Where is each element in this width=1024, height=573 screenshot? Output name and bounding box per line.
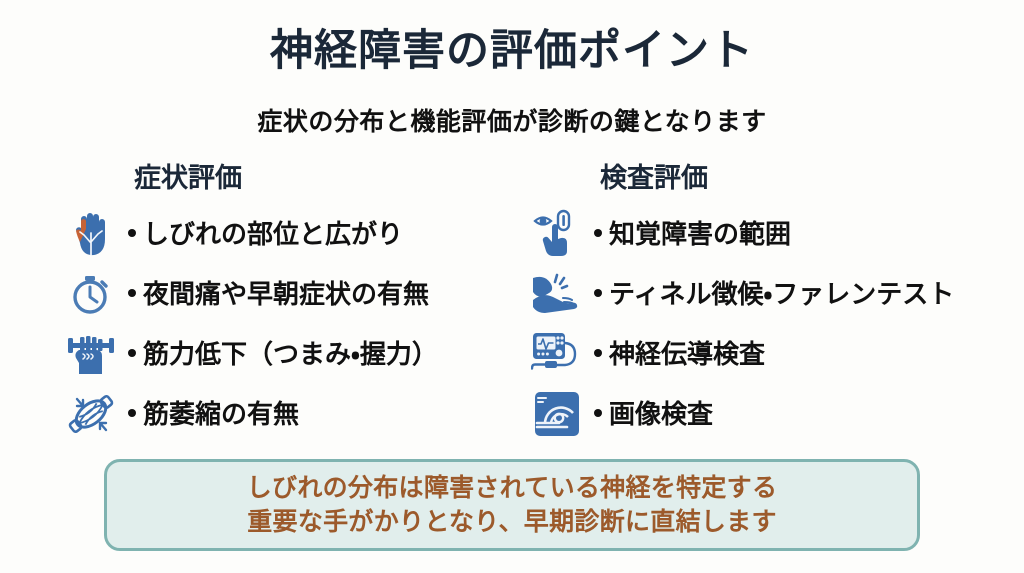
key-point-callout: しびれの分布は障害されている神経を特定する 重要な手がかりとなり、早期診断に直結… [104,459,920,551]
bullet-dot [594,229,602,237]
percussion-hand-icon [528,267,586,321]
callout-line-1: しびれの分布は障害されている神経を特定する [247,471,778,506]
bullet-dot [128,349,136,357]
bullet-dot [128,289,136,297]
column-heading-symptom: 症状評価 [134,162,532,194]
column-heading-examination: 検査評価 [600,162,1024,194]
list-item-label: 神経伝導検査 [594,340,765,369]
mri-scanner-icon [528,387,586,441]
list-item: ティネル徴候・ファレンテスト [528,264,1024,324]
nerve-conduction-monitor-icon [528,327,586,381]
stopwatch-icon [62,267,120,321]
list-item-label: 知覚障害の範囲 [594,220,791,249]
hand-nerve-icon [62,207,120,261]
list-item-label: 筋萎縮の有無 [128,400,299,429]
bullet-dot [594,349,602,357]
bullet-dot [128,229,136,237]
list-item: 神経伝導検査 [528,324,1024,384]
list-item: 画像検査 [528,384,1024,444]
symptom-item-list: しびれの部位と広がり 夜間痛や早朝症状の有無 [62,204,532,444]
list-item-label: ティネル徴候・ファレンテスト [594,280,954,309]
examination-item-list: 知覚障害の範囲 ティネル徴候・ファレンテスト [528,204,1024,444]
page-subtitle: 症状の分布と機能評価が診断の鍵となります [0,102,1024,138]
slide-root: 神経障害の評価ポイント 症状の分布と機能評価が診断の鍵となります 症状評価 しび… [0,0,1024,573]
list-item-label: しびれの部位と広がり [128,220,403,249]
muscle-atrophy-icon [62,387,120,441]
column-examination-assessment: 検査評価 知覚障害の範囲 [528,162,1024,444]
callout-line-2: 重要な手がかりとなり、早期診断に直結します [247,505,777,540]
list-item: 筋力低下（つまみ・握力） [62,324,532,384]
list-item-label: 夜間痛や早朝症状の有無 [128,280,429,309]
list-item: 知覚障害の範囲 [528,204,1024,264]
column-symptom-assessment: 症状評価 しびれの部位と広がり [62,162,532,444]
list-item: 夜間痛や早朝症状の有無 [62,264,532,324]
list-item: しびれの部位と広がり [62,204,532,264]
fist-dumbbell-icon [62,327,120,381]
bullet-dot [594,289,602,297]
list-item: 筋萎縮の有無 [62,384,532,444]
page-title: 神経障害の評価ポイント [0,28,1024,75]
list-item-label: 画像検査 [594,400,713,429]
bullet-dot [128,409,136,417]
sensory-test-icon [528,207,586,261]
bullet-dot [594,409,602,417]
list-item-label: 筋力低下（つまみ・握力） [128,340,438,369]
